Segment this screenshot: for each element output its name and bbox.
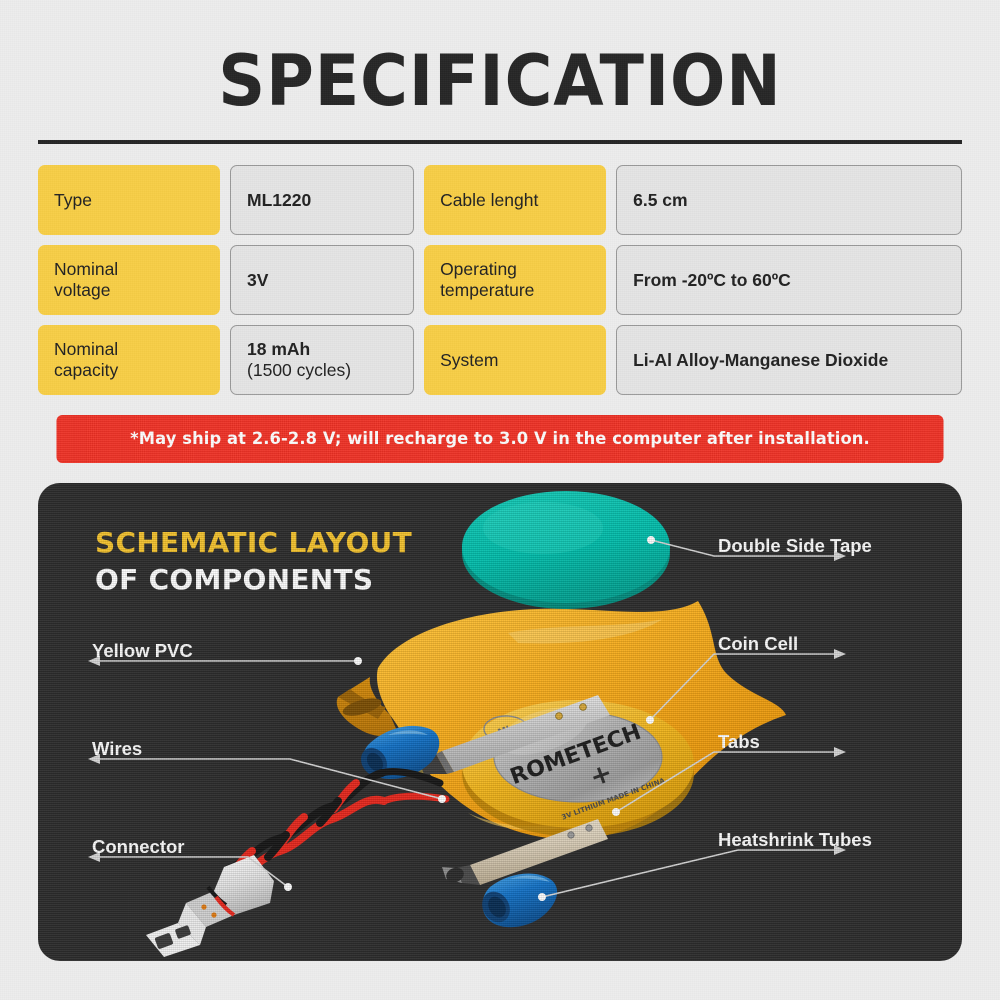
- spec-key-system: System: [424, 325, 606, 395]
- spec-value-nominal-capacity: 18 mAh (1500 cycles): [230, 325, 414, 395]
- page-title: SPECIFICATION: [35, 46, 965, 116]
- spec-value-nominal-voltage: 3V: [230, 245, 414, 315]
- spec-value-type: ML1220: [230, 165, 414, 235]
- infographic-sheet: SPECIFICATION Type ML1220 Cable lenght 6…: [0, 0, 1000, 1000]
- spec-key-nominal-voltage: Nominalvoltage: [38, 245, 220, 315]
- warning-banner-text: *May ship at 2.6-2.8 V; will recharge to…: [130, 429, 870, 449]
- callout-label-tabs: Tabs: [718, 731, 760, 753]
- callout-label-heatshrink-tubes: Heatshrink Tubes: [718, 829, 872, 851]
- title-divider: [38, 140, 962, 144]
- connector: [146, 855, 274, 957]
- table-row: Nominalcapacity 18 mAh (1500 cycles) Sys…: [38, 325, 962, 395]
- table-row: Type ML1220 Cable lenght 6.5 cm: [38, 165, 962, 235]
- spec-key-operating-temperature: Operatingtemperature: [424, 245, 606, 315]
- table-row: Nominalvoltage 3V Operatingtemperature F…: [38, 245, 962, 315]
- warning-banner: *May ship at 2.6-2.8 V; will recharge to…: [56, 415, 943, 463]
- callout-label-double-side-tape: Double Side Tape: [718, 535, 872, 557]
- callout-label-wires: Wires: [92, 738, 142, 760]
- capacity-main: 18 mAh: [247, 339, 351, 360]
- schematic-heading: SCHEMATIC LAYOUT OF COMPONENTS: [95, 525, 412, 599]
- capacity-cycles: (1500 cycles): [247, 360, 351, 381]
- double-side-tape: [462, 491, 670, 609]
- spec-value-system: Li-Al Alloy-Manganese Dioxide: [616, 325, 962, 395]
- schematic-panel: ROMETECH + 3V LITHIUM MADE IN CHINA ML: [38, 483, 962, 961]
- callout-label-coin-cell: Coin Cell: [718, 633, 798, 655]
- schematic-heading-line2: OF COMPONENTS: [95, 562, 412, 599]
- schematic-heading-line1: SCHEMATIC LAYOUT: [95, 525, 412, 562]
- spec-value-operating-temperature: From -20ºC to 60ºC: [616, 245, 962, 315]
- spec-key-nominal-capacity: Nominalcapacity: [38, 325, 220, 395]
- callout-label-connector: Connector: [92, 836, 185, 858]
- specification-table: Type ML1220 Cable lenght 6.5 cm Nominalv…: [38, 165, 962, 395]
- spec-key-cable-length: Cable lenght: [424, 165, 606, 235]
- spec-key-type: Type: [38, 165, 220, 235]
- callout-label-yellow-pvc: Yellow PVC: [92, 640, 193, 662]
- spec-value-cable-length: 6.5 cm: [616, 165, 962, 235]
